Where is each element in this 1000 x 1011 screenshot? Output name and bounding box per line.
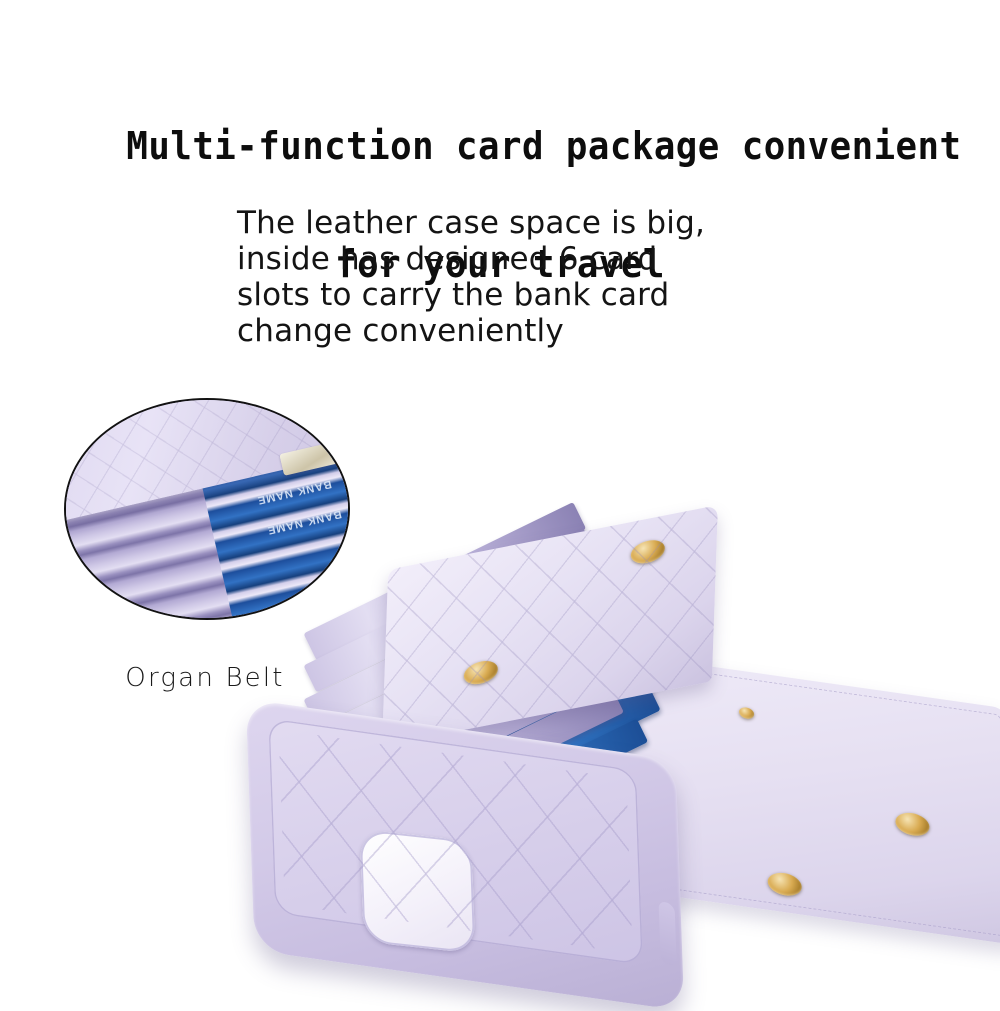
gold-snap-button — [895, 811, 930, 838]
phone-case-quilted-panel — [268, 718, 643, 965]
product-marketing-image: Multi-function card package convenient f… — [0, 0, 1000, 1000]
side-button-cover — [658, 900, 676, 967]
gold-snap-button — [767, 871, 802, 898]
camera-cutout — [360, 829, 476, 954]
gold-snap-button — [630, 537, 665, 566]
product-description: The leather case space is big, inside ha… — [237, 205, 837, 349]
product-photo: BANK NAME BANK NAME BANK NAME BANK NAME … — [250, 540, 1000, 980]
gold-snap-button — [463, 658, 498, 687]
page-title-line-1: Multi-function card package convenient — [126, 124, 961, 168]
